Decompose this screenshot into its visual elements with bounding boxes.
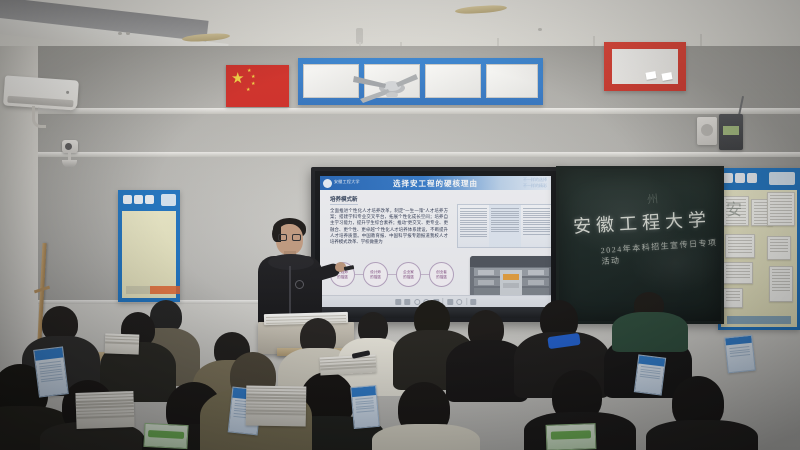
bubble-startup: 创业者的摇篮 (429, 262, 454, 287)
doc-column-right (521, 205, 551, 247)
lab-photo-graphic (470, 256, 551, 300)
handout-header-bar (638, 356, 665, 367)
bubble-connector-3 (421, 274, 429, 275)
paper-stack-back-left (105, 333, 140, 354)
chinese-flag: ★ ★ ★ ★ ★ (226, 65, 289, 107)
bubble-engineer-line2: 的摇篮 (337, 275, 348, 279)
pen-icon[interactable] (395, 299, 401, 305)
jacket-logo-icon (295, 280, 304, 289)
banner-panel-4 (486, 64, 538, 98)
notice-sheet-4 (767, 236, 791, 260)
highlighter-icon[interactable] (404, 299, 410, 305)
book-stack-left (75, 391, 134, 429)
undo-icon[interactable] (447, 299, 453, 305)
handout-header-bar (725, 336, 752, 346)
chalkboard-ghost-char: 州 (646, 190, 659, 207)
board-right-logo-icon (769, 172, 795, 185)
board-left-footer-label (126, 286, 150, 294)
ceiling-mark-2 (126, 32, 130, 35)
bubble-designer-line2: 的摇篮 (370, 275, 381, 279)
bubble-designer-line1: 设计师 (370, 270, 381, 274)
student-shoulders (372, 424, 480, 450)
handout-booklet-5[interactable] (724, 335, 756, 374)
board-chip-2 (134, 195, 143, 204)
student-shoulders (646, 420, 758, 450)
ghost-line-2: 不一样的精彩 (523, 183, 547, 189)
notice-sheet-6 (769, 266, 793, 302)
notice-sheet-3 (725, 234, 755, 258)
wall-rail-mid (0, 152, 800, 157)
doc-column-mid (489, 205, 520, 247)
wall-rail-upper (0, 108, 800, 114)
board-right-chip-3 (747, 173, 757, 183)
flag-star-large: ★ (231, 71, 244, 86)
interactive-whiteboard[interactable]: 安徽工程大学 选择安工程的硬核理由 不一样的选择 不一样的精彩 培养模式新 全面… (311, 167, 560, 322)
slide-body-text: 全面推进个性化人才培养改革，制定“一生一策”人才培养方案；搭建学科专业交叉平台，… (330, 208, 448, 245)
bubble-entrepreneur: 企业家的摇篮 (396, 262, 421, 287)
chalkboard-edge-char: 安 (726, 196, 800, 220)
bubble-connector-2 (388, 274, 396, 275)
handout-header-bar (351, 386, 376, 397)
banner-panel-2 (364, 64, 420, 98)
notice-sheet-7 (723, 288, 743, 308)
handout-header-bar (34, 347, 63, 360)
frame-note-1 (645, 71, 656, 80)
frame-note-2 (661, 72, 672, 81)
notice-sheet-5 (723, 262, 753, 284)
bubble-connector-1 (355, 274, 363, 275)
student-shoulders (612, 312, 688, 352)
banner-panel-3 (425, 64, 481, 98)
glasses-lens-right (292, 234, 301, 241)
toolbar-divider-2 (466, 298, 467, 305)
ac-drain-wire (30, 126, 32, 196)
bubble-designer: 设计师的摇篮 (363, 262, 388, 287)
wall-banner-blue (298, 58, 543, 105)
banner-panel-1 (303, 64, 359, 98)
glasses-icon (278, 234, 301, 241)
board-right-chip-2 (735, 173, 745, 183)
slide-section-heading: 培养模式新 (330, 195, 358, 203)
notebook-green-2[interactable] (143, 423, 188, 449)
control-box-screen (723, 126, 739, 135)
bulletin-board-right (718, 168, 800, 330)
notebook-green-1[interactable] (546, 423, 597, 450)
slide-title: 选择安工程的硬核理由 (320, 178, 551, 189)
presenter-hood (268, 254, 314, 270)
notebook-label (148, 430, 184, 439)
board-chip-1 (123, 195, 132, 204)
bubble-startup-line2: 的摇篮 (436, 275, 447, 279)
board-left-header (118, 190, 180, 211)
board-left-content (122, 211, 176, 298)
ceiling-mark-1 (118, 32, 122, 35)
handout-booklet-4[interactable] (634, 354, 666, 395)
board-right-footer-bar (727, 316, 791, 324)
bubble-startup-line1: 创业者 (436, 270, 447, 274)
flag-star-4: ★ (246, 88, 250, 93)
eraser-icon[interactable] (414, 299, 420, 305)
bulletin-board-left (118, 190, 180, 302)
more-icon[interactable] (456, 299, 462, 305)
wall-speaker (697, 117, 717, 145)
slide-ghost-text: 不一样的选择 不一样的精彩 (523, 177, 547, 189)
notebook-label (551, 431, 592, 441)
paper-stack-center (320, 355, 377, 376)
ceiling-mark-3 (538, 28, 542, 31)
board-chip-3 (145, 195, 154, 204)
slide-lab-photo (470, 256, 551, 300)
ceiling-fan-mount-right (455, 4, 507, 15)
flag-star-2: ★ (251, 75, 255, 80)
book-stack-center (246, 385, 307, 426)
bubble-entrepreneur-line2: 的摇篮 (403, 275, 414, 279)
board-left-badge-icon (161, 194, 176, 206)
bubble-entrepreneur-line1: 企业家 (403, 270, 414, 274)
ac-pipe (32, 106, 46, 128)
av-control-box[interactable] (719, 114, 743, 150)
slide-screen[interactable]: 安徽工程大学 选择安工程的硬核理由 不一样的选择 不一样的精彩 培养模式新 全面… (320, 176, 551, 307)
wall-frame-red (604, 42, 686, 91)
classroom-photo: ★ ★ ★ ★ ★ (0, 0, 800, 450)
handout-booklet-3[interactable] (350, 385, 380, 429)
board-right-chip-1 (723, 173, 733, 183)
flag-star-3: ★ (251, 82, 255, 87)
glasses-lens-left (278, 234, 287, 241)
slide-header: 安徽工程大学 选择安工程的硬核理由 (320, 176, 551, 190)
doc-column-left (458, 205, 489, 247)
handout-booklet-1[interactable] (33, 346, 69, 397)
close-icon[interactable] (470, 299, 476, 305)
slide-document-image (457, 204, 551, 248)
ac-indicator-icon (66, 91, 69, 94)
